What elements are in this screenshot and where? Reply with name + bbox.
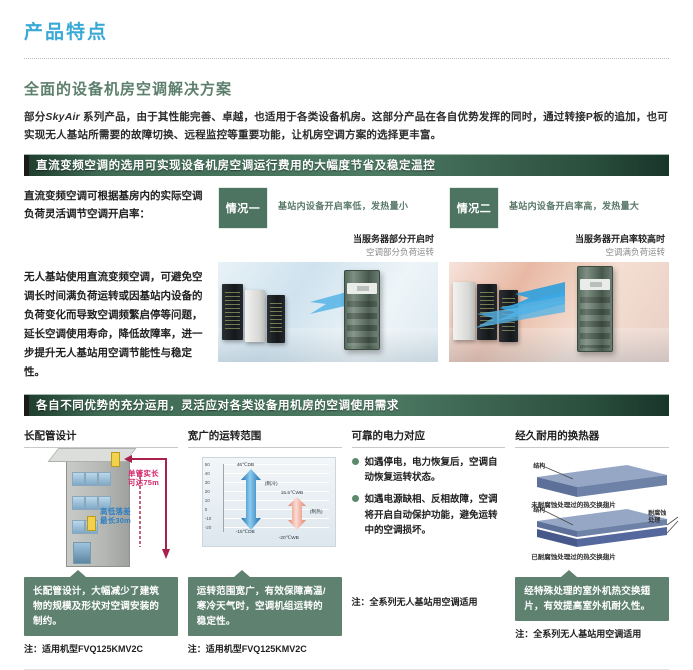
- bullet-dot-icon: [352, 458, 359, 465]
- airflow-arrows-icon: [469, 278, 569, 338]
- fin-caption-treated: 已耐腐蚀处理过的热交换翅片: [531, 551, 616, 561]
- case-2-illustration: [449, 262, 669, 362]
- case-2-sub-title: 当服务器开启率较高时: [449, 232, 665, 245]
- bullet-dot-icon: [352, 495, 359, 502]
- ac-unit-1: [344, 270, 380, 350]
- column-power-response: 可靠的电力对应 如遇停电，电力恢复后，空调自动恢复运转状态。 如遇电源缺相、反相…: [352, 428, 506, 656]
- case-1-tag: 情况一: [218, 187, 268, 229]
- dc-inverter-block: 直流变频空调可根据基房内的实际空调负荷灵活调节空调开启率： 无人基站使用直流变频…: [24, 187, 669, 382]
- list-item: 如遇电源缺相、反相故障，空调将开启自动保护功能，避免运转中的空调损坏。: [352, 492, 506, 539]
- dc-inverter-text-column: 直流变频空调可根据基房内的实际空调负荷灵活调节空调开启率： 无人基站使用直流变频…: [24, 187, 218, 382]
- ac-grille: [580, 297, 610, 348]
- band-advantages-label: 各自不同优势的充分运用，灵活应对各类设备用机房的空调使用需求: [36, 397, 399, 413]
- case-1-sub-text: 空调部分负荷运转: [218, 246, 434, 258]
- callout-tip: [70, 570, 86, 577]
- case-2-tag: 情况二: [449, 187, 499, 229]
- column-2-heading: 宽广的运转范围: [188, 428, 342, 448]
- building-door: [73, 542, 91, 564]
- case-2-sub-text: 空调满负荷运转: [449, 246, 665, 258]
- chart-label-cool-bottom: -15℃DB: [236, 530, 255, 535]
- chart-annotation-cool: (制冷): [265, 480, 278, 487]
- intro-brand: SkyAir: [45, 111, 79, 123]
- operating-range-chart: 50 40 30 20 10 0 -10 -20: [202, 457, 336, 547]
- case-1-sub-title: 当服务器部分开启时: [218, 232, 434, 245]
- building-window: [72, 496, 85, 510]
- fin-structure-label-1: 结构: [533, 461, 545, 470]
- chart-annotation-heat: (制热): [310, 508, 323, 515]
- column-4-heading: 经久耐用的换热器: [515, 428, 669, 448]
- ac-unit-2: [577, 266, 613, 352]
- ac-display-panel: [347, 283, 377, 294]
- case-1-subtitle: 当服务器部分开启时 空调部分负荷运转: [218, 232, 438, 258]
- lead-paragraph-second: 无人基站使用直流变频空调，可避免空调长时间满负荷运转或因基站内设备的负荷变化而导…: [24, 268, 210, 381]
- page-title: 产品特点: [24, 22, 693, 45]
- product-features-page: 产品特点 全面的设备机房空调解决方案 部分SkyAir 系列产品，由于其性能完善…: [0, 0, 693, 589]
- power-bullet-2: 如遇电源缺相、反相故障，空调将开启自动保护功能，避免运转中的空调损坏。: [365, 492, 506, 539]
- column-2-callout: 运转范围宽广，有效保障高温/寒冷天气时，空调机组运转的稳定性。: [188, 577, 342, 637]
- section-intro: 部分SkyAir 系列产品，由于其性能完善、卓越，也适用于各类设备机房。这部分产…: [24, 108, 669, 145]
- advantages-columns: 长配管设计: [24, 428, 669, 656]
- column-2-note: 注：适用机型FVQ125KMV2C: [188, 642, 342, 655]
- case-2-header: 情况二 基站内设备开启率高，发热量大: [449, 187, 669, 229]
- callout-tip: [561, 570, 577, 577]
- column-2-illustration: 50 40 30 20 10 0 -10 -20: [188, 455, 342, 573]
- case-1-illustration: [218, 262, 438, 362]
- note-height-difference: 高低落差 最长30m: [100, 507, 131, 526]
- building-window: [72, 520, 85, 534]
- list-item: 如遇停电，电力恢复后，空调自动恢复运转状态。: [352, 455, 506, 486]
- title-zone: 产品特点: [0, 0, 693, 45]
- column-1-callout: 长配管设计，大幅减少了建筑物的规模及形状对空调安装的制约。: [24, 577, 178, 637]
- title-divider: [24, 58, 669, 59]
- column-heat-exchanger: 经久耐用的换热器: [515, 428, 669, 656]
- case-1-description: 基站内设备开启率低，发热量小: [278, 187, 408, 212]
- case-1-header: 情况一 基站内设备开启率低，发热量小: [218, 187, 438, 229]
- band-dc-inverter: 直流变频空调的选用可实现设备机房空调运行费用的大幅度节省及稳定温控: [24, 154, 669, 176]
- chart-label-cool-top: 46℃DB: [237, 463, 254, 468]
- content-area: 全面的设备机房空调解决方案 部分SkyAir 系列产品，由于其性能完善、卓越，也…: [0, 78, 693, 655]
- case-2-subtitle: 当服务器开启率较高时 空调满负荷运转: [449, 232, 669, 258]
- band-advantages: 各自不同优势的充分运用，灵活应对各类设备用机房的空调使用需求: [24, 394, 669, 416]
- column-3-heading: 可靠的电力对应: [352, 428, 506, 448]
- column-1-heading: 长配管设计: [24, 428, 178, 448]
- case-item-1: 情况一 基站内设备开启率低，发热量小 当服务器部分开启时 空调部分负荷运转: [218, 187, 438, 382]
- rack-leds: [225, 292, 240, 332]
- case-list: 情况一 基站内设备开启率低，发热量小 当服务器部分开启时 空调部分负荷运转: [218, 187, 669, 382]
- band-dc-inverter-label: 直流变频空调的选用可实现设备机房空调运行费用的大幅度节省及稳定温控: [36, 157, 435, 173]
- intro-part-1: 部分: [24, 111, 45, 123]
- column-long-piping: 长配管设计: [24, 428, 178, 656]
- ac-grille: [347, 301, 377, 346]
- note-pipe-length: 单管实长 可达75m: [128, 469, 159, 488]
- building-window: [72, 472, 85, 486]
- intro-part-2: 系列产品，由于其性能完善、卓越，也适用于各类设备机房。这部分产品在各自优势发挥的…: [24, 111, 668, 141]
- case-2-description: 基站内设备开启率高，发热量大: [509, 187, 639, 212]
- ac-display-panel: [580, 279, 610, 290]
- column-4-callout: 经特殊处理的室外机热交换翅片，有效提高室外机耐久性。: [515, 577, 669, 621]
- callout-tip: [234, 570, 250, 577]
- server-rack-light: [245, 290, 265, 342]
- column-3-note: 注：全系列无人基站用空调适用: [352, 595, 506, 608]
- indoor-unit-icon: [87, 516, 96, 531]
- column-operating-range: 宽广的运转范围 50: [188, 428, 342, 656]
- case-item-2: 情况二 基站内设备开启率高，发热量大 当服务器开启率较高时 空调满负荷运转: [449, 187, 669, 382]
- lead-paragraph-first: 直流变频空调可根据基房内的实际空调负荷灵活调节空调开启率：: [24, 187, 210, 225]
- fin-structure-label-2: 结构: [533, 505, 545, 514]
- chart-label-heat-bottom: -20℃WB: [279, 536, 299, 541]
- rack-leds: [270, 303, 282, 335]
- column-4-note: 注：全系列无人基站用空调适用: [515, 627, 669, 640]
- server-rack-dark-2: [267, 295, 285, 343]
- chart-label-heat-top: 15.5℃WB: [281, 491, 303, 496]
- section-heading: 全面的设备机房空调解决方案: [24, 78, 669, 99]
- column-4-illustration: 结构 未耐腐蚀处理过的热交换翅片 结构 已耐腐蚀处理过的热交换翅片 耐腐蚀 处理: [515, 455, 669, 573]
- server-rack-dark-1: [222, 284, 243, 340]
- column-3-bullets: 如遇停电，电力恢复后，空调自动恢复运转状态。 如遇电源缺相、反相故障，空调将开启…: [352, 455, 506, 539]
- power-bullet-list: 如遇停电，电力恢复后，空调自动恢复运转状态。 如遇电源缺相、反相故障，空调将开启…: [352, 455, 506, 539]
- building-window: [98, 472, 111, 486]
- column-1-illustration: 单管实长 可达75m 高低落差 最长30m: [24, 455, 178, 573]
- power-bullet-1: 如遇停电，电力恢复后，空调自动恢复运转状态。: [365, 455, 506, 486]
- column-2-callout-text: 运转范围宽广，有效保障高温/寒冷天气时，空调机组运转的稳定性。: [197, 584, 333, 630]
- building-window: [85, 472, 98, 486]
- building-window: [85, 496, 98, 510]
- fin-anticorrosion-label: 耐腐蚀 处理: [648, 511, 666, 527]
- outdoor-unit-top-icon: [111, 452, 120, 467]
- column-1-callout-text: 长配管设计，大幅减少了建筑物的规模及形状对空调安装的制约。: [33, 584, 169, 630]
- chart-arrows-icon: [203, 458, 335, 546]
- column-1-note: 注：适用机型FVQ125KMV2C: [24, 642, 178, 655]
- column-4-callout-text: 经特殊处理的室外机热交换翅片，有效提高室外机耐久性。: [524, 584, 660, 614]
